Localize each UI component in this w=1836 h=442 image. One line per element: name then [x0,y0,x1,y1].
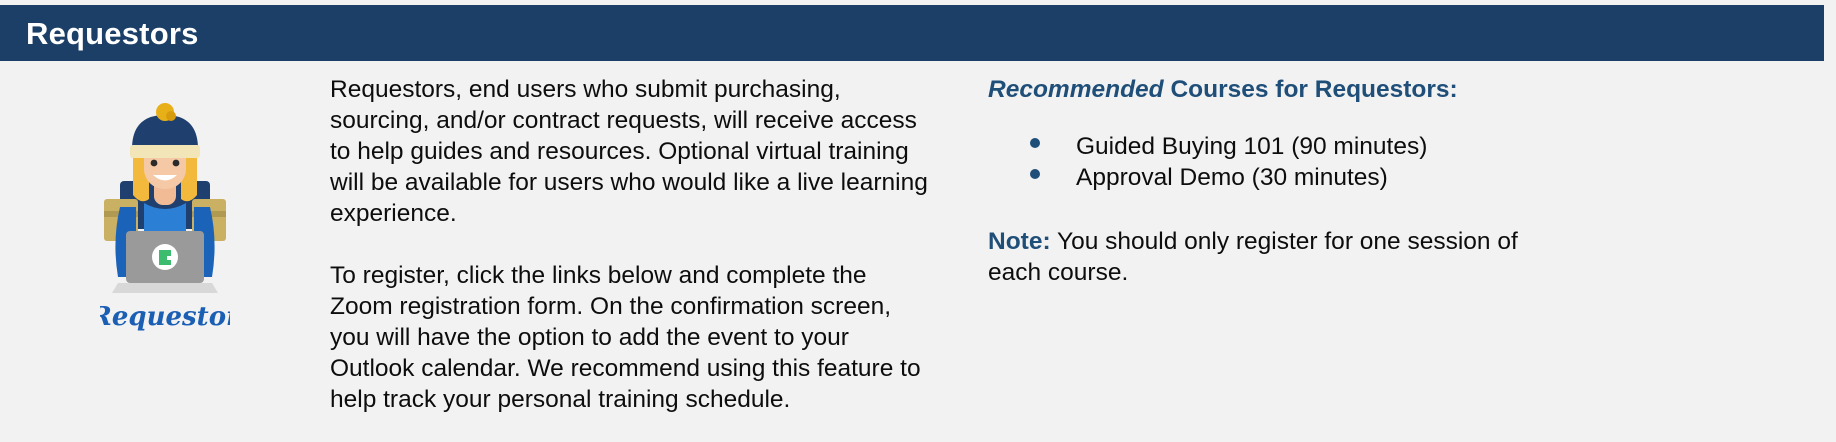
bullet-icon [1030,138,1040,148]
recommended-courses-heading-emphasis: Recommended [988,76,1164,103]
description-paragraph-2: To register, click the links below and c… [330,260,930,415]
note-text: You should only register for one session… [988,228,1518,286]
list-item[interactable]: Guided Buying 101 (90 minutes) [988,131,1836,162]
description-column: Requestors, end users who submit purchas… [330,61,970,415]
course-label: Guided Buying 101 (90 minutes) [1076,131,1427,162]
course-list: Guided Buying 101 (90 minutes) Approval … [988,131,1836,193]
description-paragraph-1: Requestors, end users who submit purchas… [330,74,930,229]
requestor-character-icon: Requestor [100,103,230,338]
requestor-avatar: Requestor [100,103,230,338]
section-header-bar: Requestors [0,5,1824,61]
recommended-courses-heading: Recommended Courses for Requestors: [988,74,1836,105]
course-label: Approval Demo (30 minutes) [1076,162,1388,193]
recommended-courses-column: Recommended Courses for Requestors: Guid… [970,61,1836,288]
registration-note: Note: You should only register for one s… [988,226,1558,288]
recommended-courses-heading-rest: Courses for Requestors: [1164,76,1458,103]
requestors-info-panel: Requestors [0,0,1836,442]
page-title: Requestors [26,18,199,49]
list-item[interactable]: Approval Demo (30 minutes) [988,162,1836,193]
bullet-icon [1030,169,1040,179]
panel-body: Requestor Requestors, end users who subm… [0,61,1836,442]
avatar-column: Requestor [0,61,330,338]
note-label: Note: [988,228,1051,255]
avatar-caption-text: Requestor [100,302,230,332]
